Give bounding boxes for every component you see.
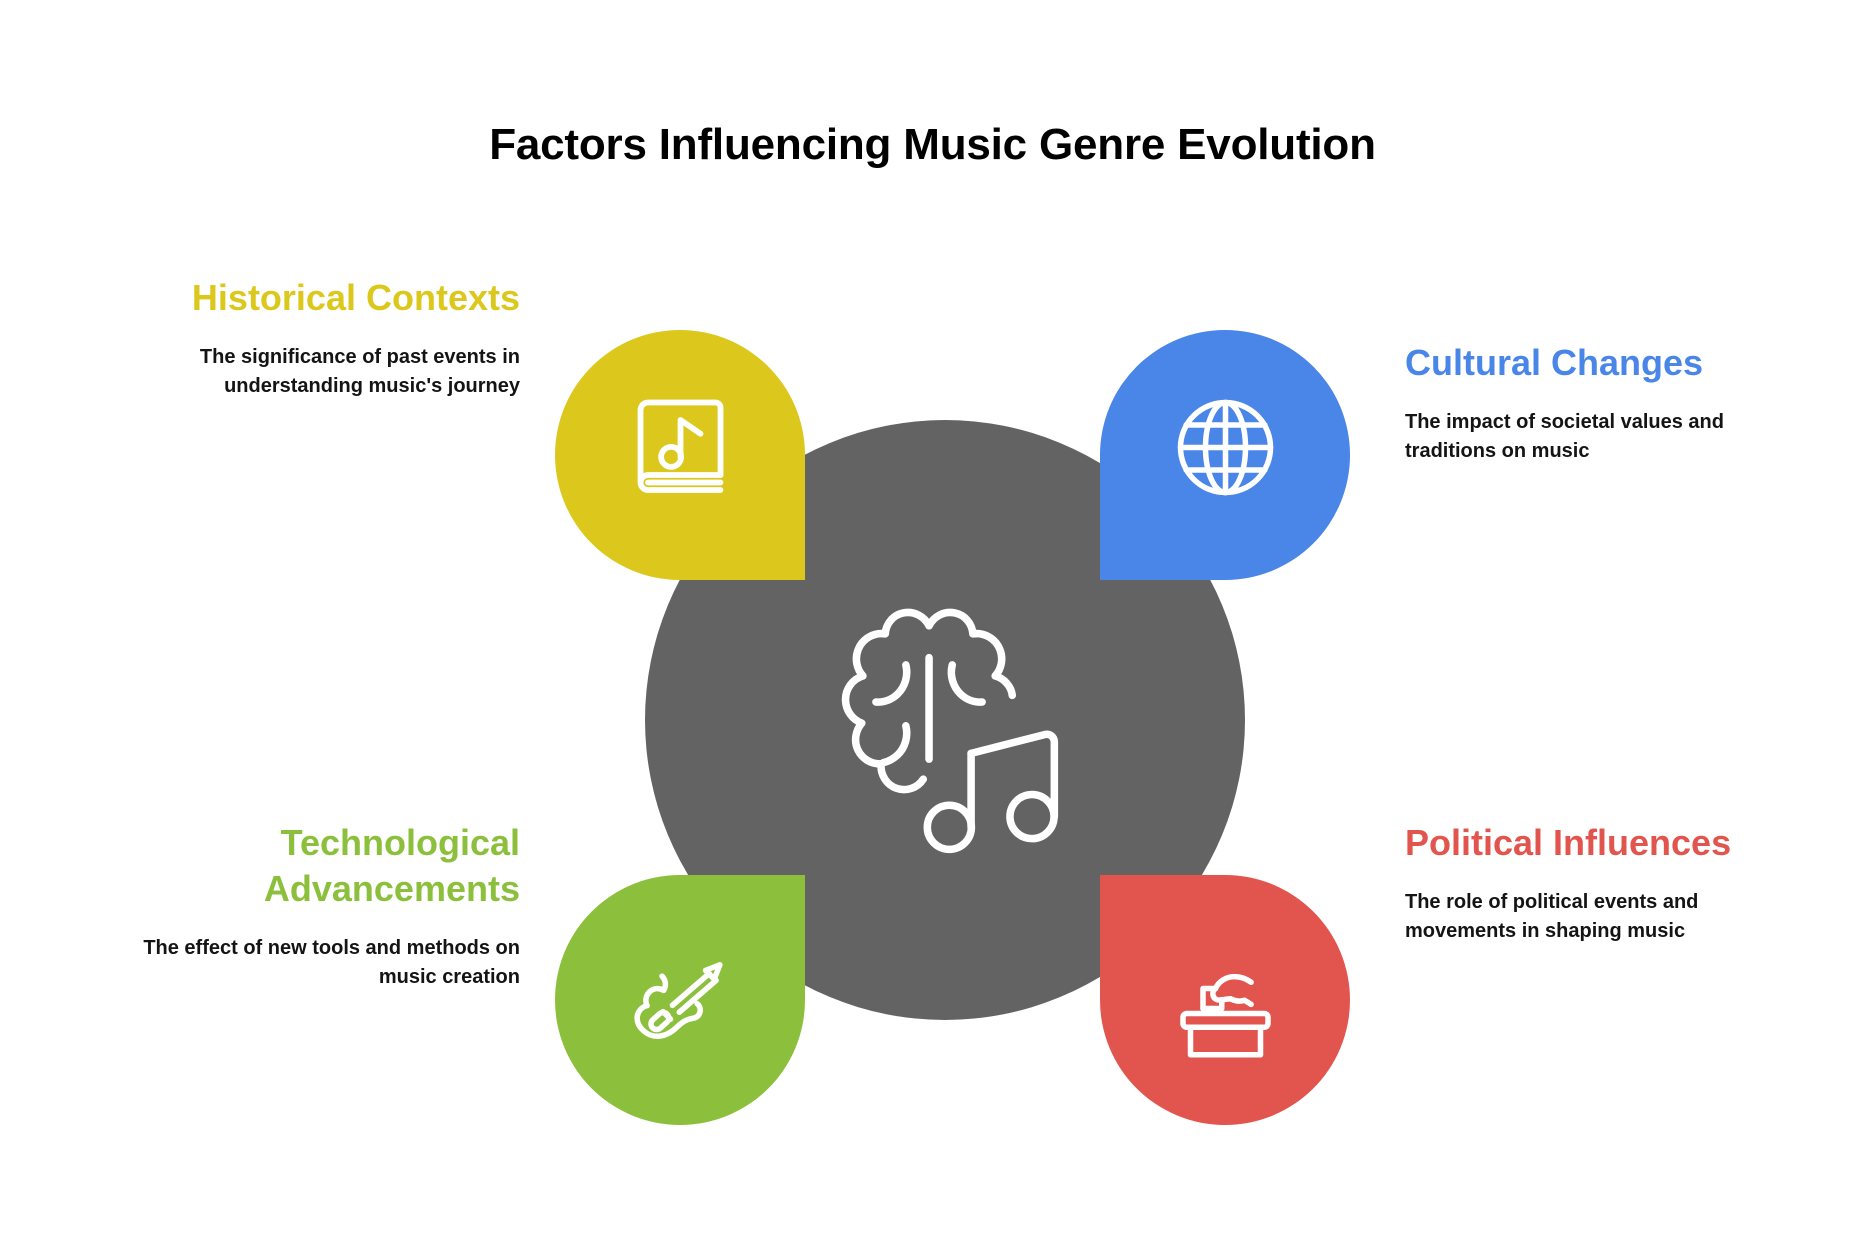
globe-icon	[1163, 385, 1288, 510]
factor-description-cultural: The impact of societal values and tradit…	[1405, 408, 1805, 466]
electric-guitar-icon	[618, 946, 743, 1071]
petal-cultural[interactable]	[1100, 330, 1350, 580]
factor-description-political: The role of political events and movemen…	[1405, 888, 1805, 946]
petal-technological[interactable]	[555, 875, 805, 1125]
factor-heading-technological: Technological Advancements	[120, 820, 520, 912]
factor-heading-historical: Historical Contexts	[120, 275, 520, 321]
factor-block-historical: Historical Contexts The significance of …	[120, 275, 520, 401]
page-title: Factors Influencing Music Genre Evolutio…	[0, 120, 1865, 170]
music-book-icon	[618, 385, 743, 510]
factor-description-historical: The significance of past events in under…	[120, 343, 520, 401]
factor-block-political: Political Influences The role of politic…	[1405, 820, 1805, 946]
petal-historical[interactable]	[555, 330, 805, 580]
brain-music-note-icon	[800, 575, 1090, 865]
factor-heading-cultural: Cultural Changes	[1405, 340, 1805, 386]
factor-block-cultural: Cultural Changes The impact of societal …	[1405, 340, 1805, 466]
factor-heading-political: Political Influences	[1405, 820, 1805, 866]
factor-block-technological: Technological Advancements The effect of…	[120, 820, 520, 992]
factor-description-technological: The effect of new tools and methods on m…	[120, 934, 520, 992]
ballot-box-hand-icon	[1163, 946, 1288, 1071]
petal-political[interactable]	[1100, 875, 1350, 1125]
